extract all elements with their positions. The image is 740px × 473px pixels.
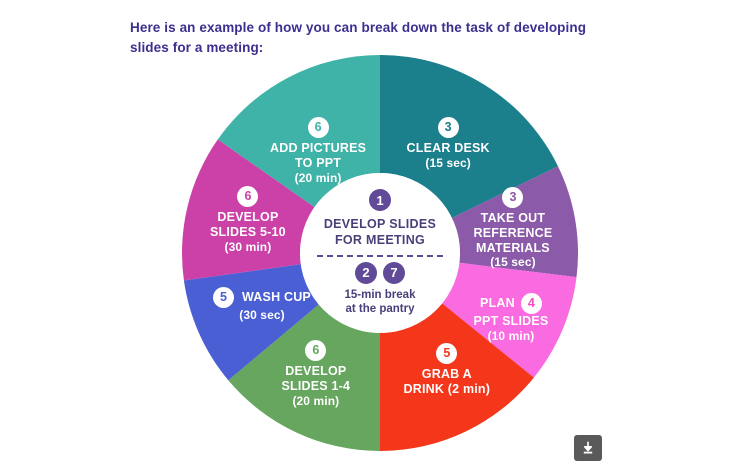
hub-badge-group: 2 7 [355,262,405,284]
intro-paragraph: Here is an example of how you can break … [130,18,620,60]
hub-badge-step-2: 2 [355,262,377,284]
hub-badge-step-7: 7 [383,262,405,284]
hub-subtitle-line-2: at the pantry [345,302,416,317]
hub-title-line-1: DEVELOP SLIDES [324,216,436,232]
hub-title: DEVELOP SLIDES FOR MEETING [324,216,436,249]
page-root: Here is an example of how you can break … [0,0,740,473]
download-button[interactable] [574,435,602,461]
hub-subtitle: 15-min break at the pantry [345,288,416,317]
hub-subtitle-line-1: 15-min break [345,288,416,303]
download-arrow-icon [581,441,595,455]
hub-title-line-2: FOR MEETING [324,232,436,248]
hub-badge-step-1: 1 [369,189,391,211]
wheel-center-hub: 1 DEVELOP SLIDES FOR MEETING 2 7 15-min … [300,173,460,333]
task-breakdown-wheel: 3CLEAR DESK(15 sec)3TAKE OUTREFERENCEMAT… [182,55,578,451]
hub-dashed-divider [317,255,443,257]
